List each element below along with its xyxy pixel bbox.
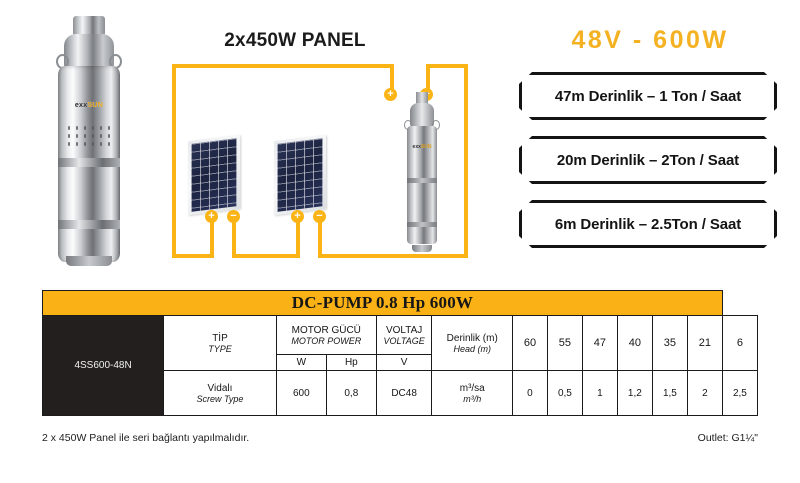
table-header-row: 4SS600-48N TİP TYPE MOTOR GÜCÜ MOTOR POW… <box>43 316 758 355</box>
specification-table: DC-PUMP 0.8 Hp 600W 4SS600-48N TİP TYPE … <box>42 290 758 416</box>
solar-panel-1-cells <box>191 138 237 212</box>
terminal-panel1-minus: − <box>227 210 240 223</box>
spec-headline: 48V - 600W <box>500 26 800 55</box>
table-unit-w: W <box>276 355 326 371</box>
table-header-head-en: Head (m) <box>432 344 512 354</box>
pump-diagram-brand-prefix: exx <box>413 144 421 150</box>
table-cell-flow-unit-tr: m³/sa <box>432 383 512 394</box>
pump-diagram-band-upper <box>407 178 437 183</box>
pump-band-upper <box>58 158 120 167</box>
pump-base <box>66 256 112 266</box>
table-header-voltage-tr: VOLTAJ <box>377 325 432 336</box>
table-cell-power-w: 600 <box>276 371 326 416</box>
table-cell-voltage: DC48 <box>376 371 432 416</box>
table-flow-value-4: 1,5 <box>652 371 687 416</box>
table-flow-value-3: 1,2 <box>617 371 652 416</box>
table-header-voltage: VOLTAJ VOLTAGE <box>376 316 432 355</box>
pump-shoulder <box>64 34 114 70</box>
pump-intake-holes <box>66 126 112 152</box>
table-title-row: DC-PUMP 0.8 Hp 600W <box>43 291 758 316</box>
wire-bottom-right <box>318 254 468 258</box>
table-header-type-en: TYPE <box>164 344 276 354</box>
wire-left-down <box>172 64 176 258</box>
pump-diagram-brand-label: exxSUN <box>408 144 436 150</box>
table-flow-value-6: 2,5 <box>722 371 757 416</box>
table-head-value-6: 6 <box>722 316 757 371</box>
pump-diagram-shoulder <box>410 103 434 127</box>
table-unit-v: V <box>376 355 432 371</box>
table-cell-power-hp: 0,8 <box>326 371 376 416</box>
table-flow-value-0: 0 <box>513 371 548 416</box>
table-head-value-1: 55 <box>547 316 582 371</box>
table-header-motor-power-tr: MOTOR GÜCÜ <box>277 325 376 336</box>
table-header-voltage-en: VOLTAGE <box>377 336 432 346</box>
pump-diagram-illustration: exxSUN <box>404 92 440 252</box>
terminal-panel1-plus: + <box>205 210 218 223</box>
pump-diagram-base <box>412 245 432 252</box>
terminal-panel2-plus: + <box>291 210 304 223</box>
spec-badge-47m: 47m Derinlik – 1 Ton / Saat <box>519 72 777 120</box>
table-header-type: TİP TYPE <box>164 316 277 371</box>
table-cell-type-tr: Vidalı <box>164 383 276 394</box>
table-head-value-5: 21 <box>687 316 722 371</box>
wire-series-link <box>232 254 300 258</box>
terminal-pump-plus: + <box>384 88 397 101</box>
table-title: DC-PUMP 0.8 Hp 600W <box>43 291 723 316</box>
terminal-panel2-minus: − <box>313 210 326 223</box>
table-header-motor-power: MOTOR GÜCÜ MOTOR POWER <box>276 316 376 355</box>
table-cell-flow-unit: m³/sa m³/h <box>432 371 513 416</box>
panel-diagram-title: 2x450W PANEL <box>170 30 420 52</box>
pump-outlet-cap <box>73 16 105 36</box>
table-head-value-0: 60 <box>513 316 548 371</box>
table-cell-type-en: Screw Type <box>164 394 276 404</box>
footer-note-connection: 2 x 450W Panel ile seri bağlantı yapılma… <box>42 432 249 444</box>
pump-diagram-band-lower <box>407 222 437 227</box>
table-header-head: Derinlik (m) Head (m) <box>432 316 513 371</box>
pump-brand-prefix: exx <box>75 102 88 109</box>
solar-panel-2-cells <box>277 138 323 212</box>
table-head-value-4: 35 <box>652 316 687 371</box>
table-head-value-2: 47 <box>582 316 617 371</box>
spec-badge-20m: 20m Derinlik – 2Ton / Saat <box>519 136 777 184</box>
table-header-type-tr: TİP <box>164 333 276 344</box>
table-cell-flow-unit-en: m³/h <box>432 394 512 404</box>
table-header-head-tr: Derinlik (m) <box>432 333 512 344</box>
table-flow-value-1: 0,5 <box>547 371 582 416</box>
solar-panel-2 <box>274 135 326 215</box>
table-cell-type: Vidalı Screw Type <box>164 371 277 416</box>
table-cell-model: 4SS600-48N <box>43 316 164 416</box>
solar-panel-1 <box>188 135 240 215</box>
pump-product-photo: exxSUN <box>52 14 126 266</box>
footer-note-outlet: Outlet: G1¼" <box>698 432 758 444</box>
pump-diagram-brand-suffix: SUN <box>421 144 432 150</box>
wire-top-left <box>172 64 394 68</box>
pump-brand-label: exxSUN <box>61 102 117 109</box>
wire-top-right <box>426 64 468 68</box>
pump-brand-suffix: SUN <box>87 102 103 109</box>
table-head-value-3: 40 <box>617 316 652 371</box>
table-unit-hp: Hp <box>326 355 376 371</box>
table-flow-value-2: 1 <box>582 371 617 416</box>
wire-bottom-left <box>172 254 214 258</box>
table-header-motor-power-en: MOTOR POWER <box>277 336 376 346</box>
pump-band-lower <box>58 220 120 229</box>
spec-badge-6m: 6m Derinlik – 2.5Ton / Saat <box>519 200 777 248</box>
wire-right-down <box>464 64 468 258</box>
table-flow-value-5: 2 <box>687 371 722 416</box>
